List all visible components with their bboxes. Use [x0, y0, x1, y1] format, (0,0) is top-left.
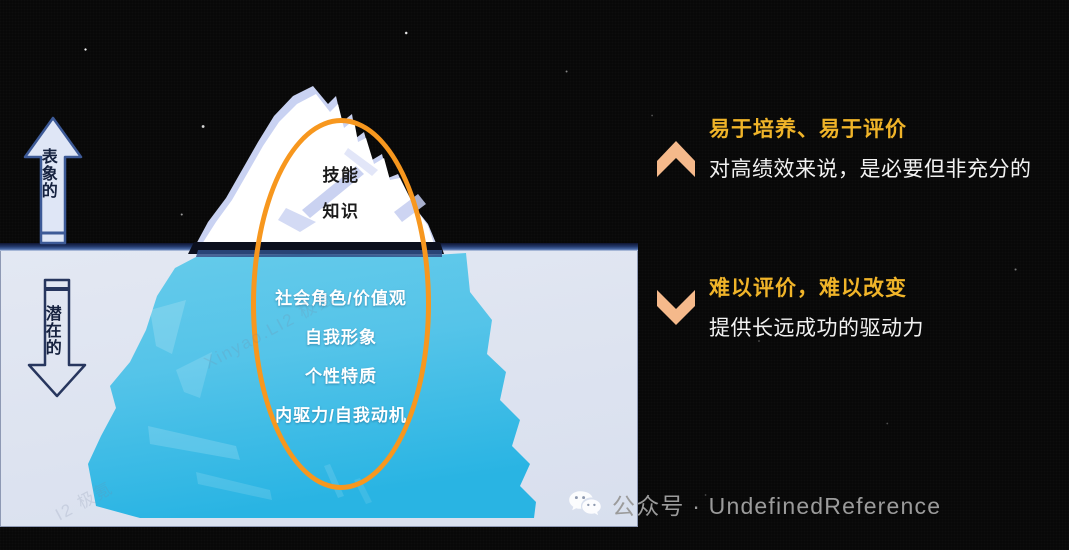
slide-canvas: 表象的 潜在的 技能 知识 社会角色/价值观 自我形象 个性特质 内驱力/自我动… [0, 0, 1069, 550]
highlight-ellipse [251, 118, 431, 490]
callout-surface-text: 易于培养、易于评价 对高绩效来说，是必要但非充分的 [709, 113, 1032, 183]
callout-surface: 易于培养、易于评价 对高绩效来说，是必要但非充分的 [655, 113, 1032, 183]
callout-hidden: 难以评价，难以改变 提供长远成功的驱动力 [655, 272, 924, 342]
footer-text: 公众号 · UndefinedReference [612, 487, 941, 521]
chevron-up-icon [655, 137, 697, 181]
callout-hidden-body: 提供长远成功的驱动力 [709, 312, 924, 342]
footer-credit: 公众号 · UndefinedReference [568, 484, 941, 524]
callout-surface-title: 易于培养、易于评价 [709, 113, 1032, 143]
callout-hidden-title: 难以评价，难以改变 [709, 272, 924, 302]
chevron-down-icon [655, 286, 697, 330]
wechat-icon [568, 489, 602, 519]
callout-hidden-text: 难以评价，难以改变 提供长远成功的驱动力 [709, 272, 924, 342]
arrow-down-label: 潜在的 [42, 305, 59, 356]
callout-surface-body: 对高绩效来说，是必要但非充分的 [709, 153, 1032, 183]
arrow-up-label: 表象的 [38, 148, 55, 199]
